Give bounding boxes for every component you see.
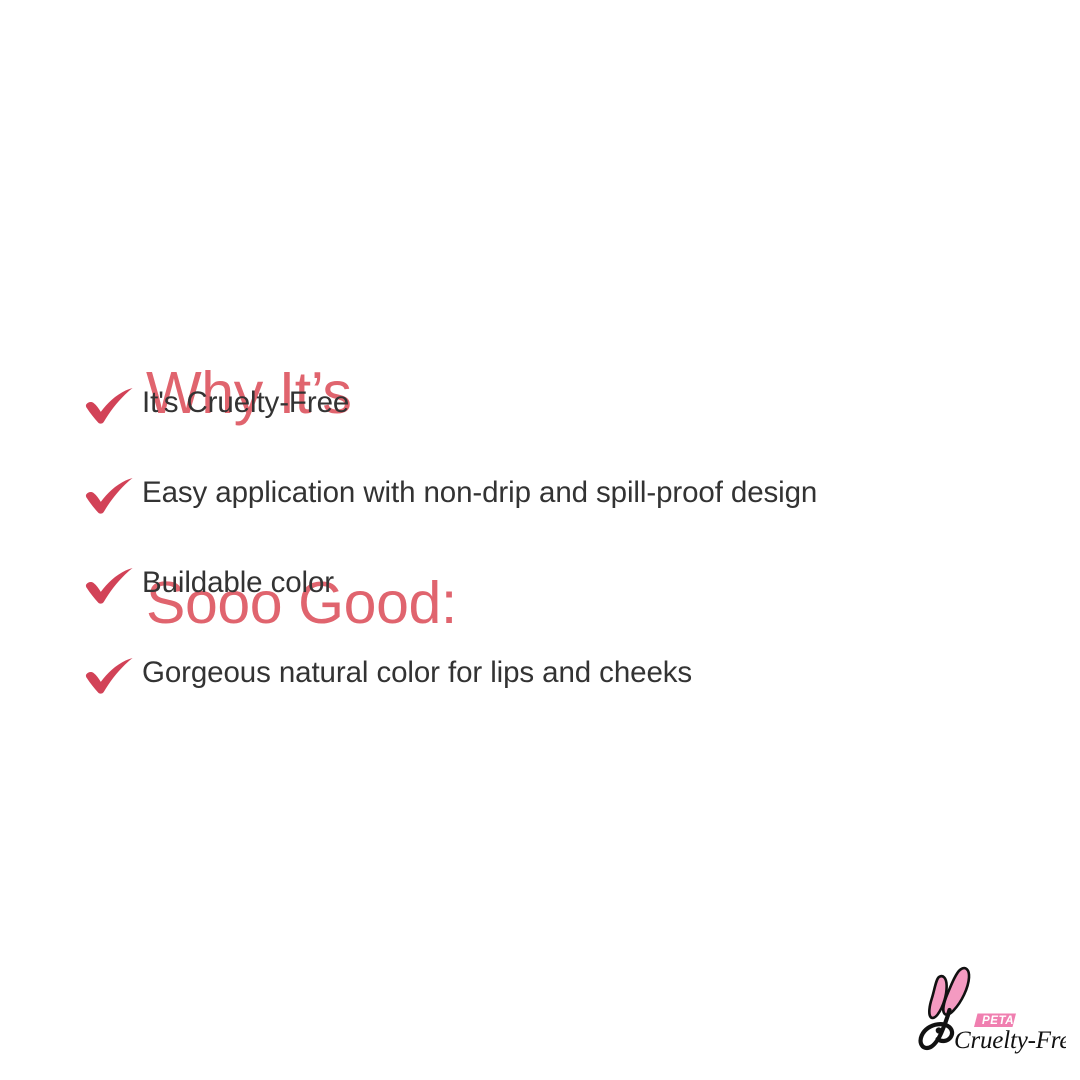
bunny-eye-icon [936,1027,942,1033]
list-item-label: Easy application with non-drip and spill… [142,472,817,513]
list-item: Easy application with non-drip and spill… [84,472,1024,562]
cruelty-free-wordmark: Cruelty-Free [954,1027,1066,1054]
check-icon [84,654,142,700]
list-item-label: Gorgeous natural color for lips and chee… [142,652,692,693]
check-icon [84,474,142,520]
list-item: Gorgeous natural color for lips and chee… [84,652,1024,742]
benefits-list: It's Cruelty-Free Easy application with … [84,382,1024,742]
check-icon [84,384,142,430]
check-icon [84,564,142,610]
peta-badge: PETA [974,1014,1016,1028]
list-item: It's Cruelty-Free [84,382,1024,472]
peta-cruelty-free-logo: PETA Cruelty-Free [916,963,1066,1055]
list-item: Buildable color [84,562,1024,652]
poster-canvas: Why It’s Sooo Good: It's Cruelty-Free Ea… [0,0,1080,1080]
peta-badge-label: PETA [982,1015,1014,1027]
list-item-label: It's Cruelty-Free [142,382,349,423]
list-item-label: Buildable color [142,562,334,603]
